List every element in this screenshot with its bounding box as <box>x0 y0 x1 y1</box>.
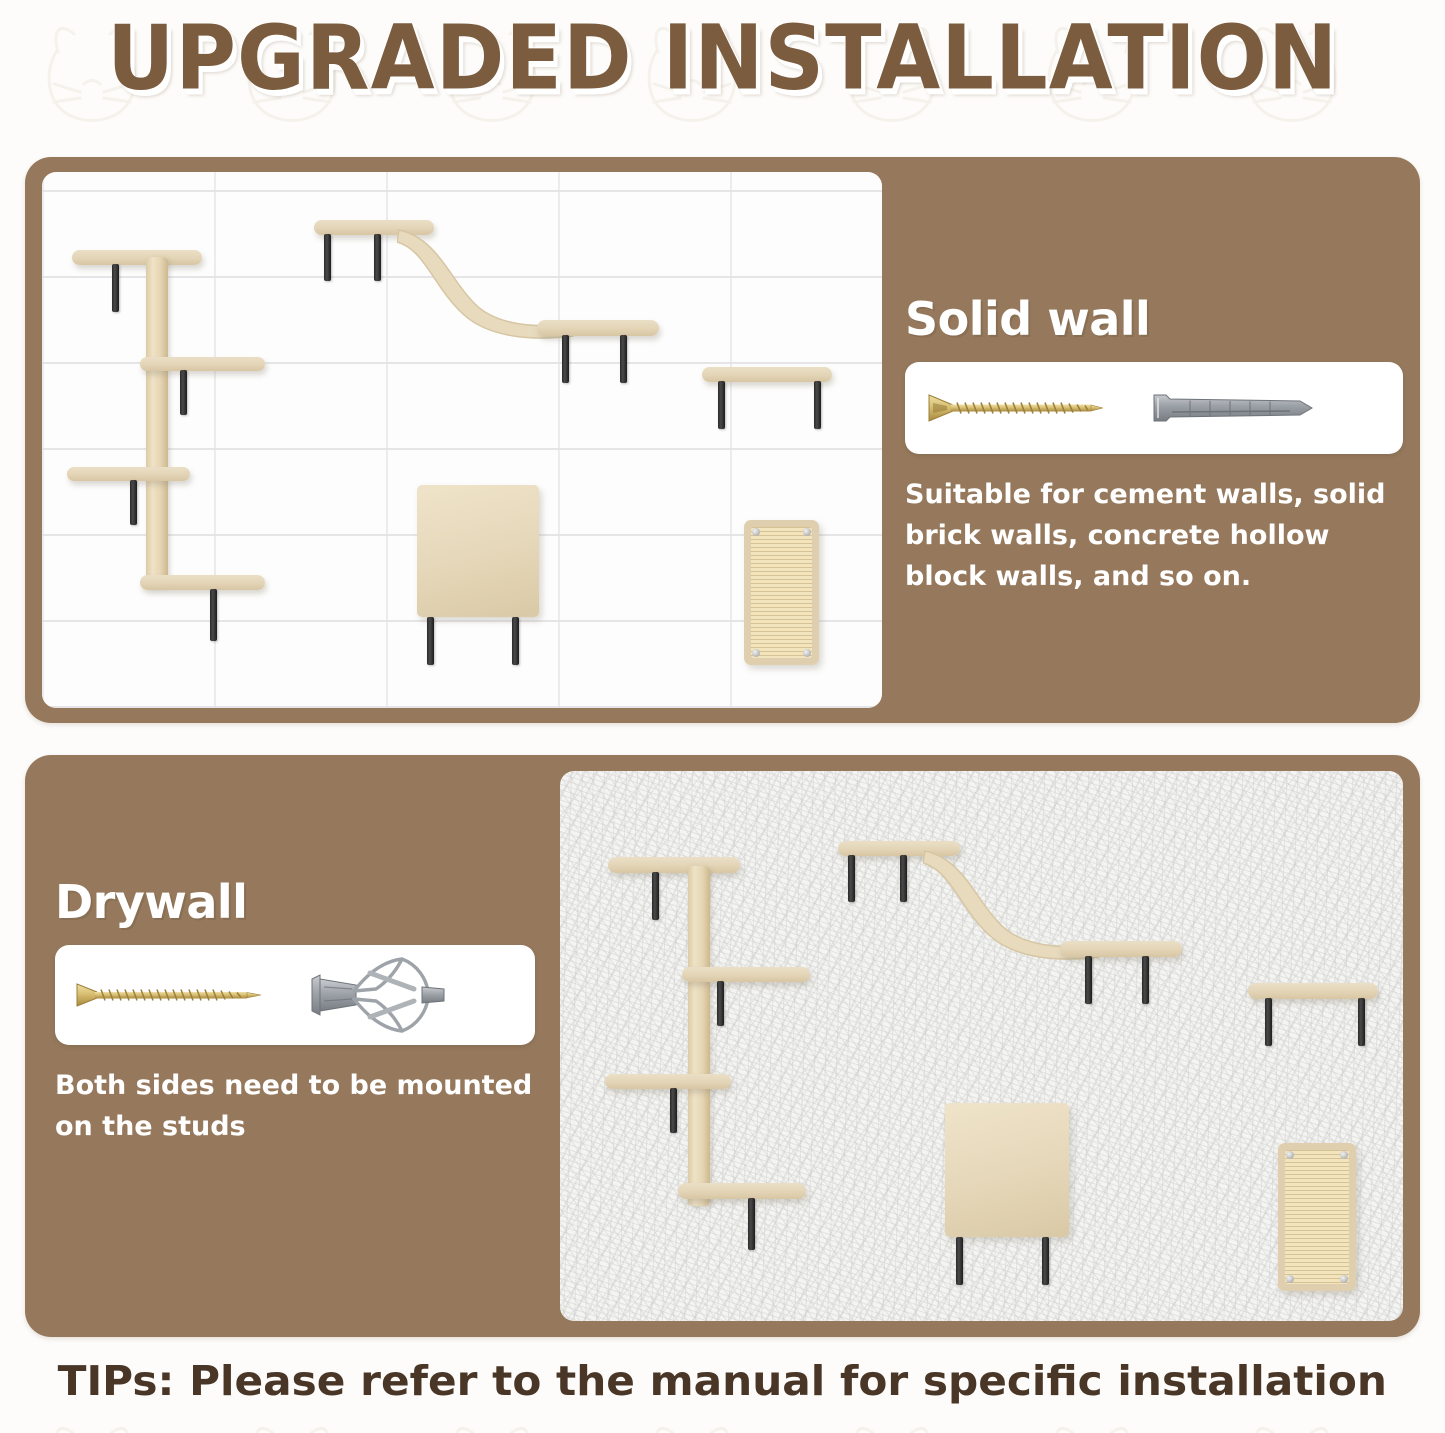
page-title: UPGRADED INSTALLATION <box>0 14 1445 104</box>
wall-shelf-step <box>678 1183 806 1199</box>
wall-shelf-step <box>140 357 265 371</box>
drywall-photo <box>560 771 1403 1321</box>
corner-screw <box>752 649 760 657</box>
shelf-bracket <box>814 381 821 429</box>
shelf-bracket <box>620 335 627 383</box>
wall-shelf-step <box>682 967 810 982</box>
corner-screw <box>1340 1151 1348 1159</box>
solid-wall-panel: Solid wall <box>25 157 1420 723</box>
page-title-text: UPGRADED INSTALLATION <box>107 8 1338 111</box>
shelf-bracket <box>324 234 331 281</box>
shelf-bracket <box>848 855 855 902</box>
shelf-bracket <box>956 1237 963 1285</box>
gold-countersunk-screw-icon <box>927 390 1117 426</box>
plush-hammock-box <box>417 485 539 617</box>
wall-shelf-step <box>537 320 659 336</box>
corner-screw <box>1340 1275 1348 1283</box>
wall-shelf-step <box>702 367 832 382</box>
corner-screw <box>1286 1151 1294 1159</box>
sisal-surface <box>751 527 812 658</box>
shelf-bracket <box>1142 956 1149 1004</box>
drywall-hardware-card <box>55 945 535 1045</box>
plush-hammock-box <box>945 1103 1069 1237</box>
solid-wall-description: Suitable for cement walls, solid brick w… <box>905 474 1403 597</box>
footer-tip: TIPs: Please refer to the manual for spe… <box>0 1357 1445 1405</box>
shelf-bracket <box>900 855 907 902</box>
shelf-bracket <box>112 264 119 312</box>
footer-tip-text: TIPs: Please refer to the manual for spe… <box>58 1357 1387 1405</box>
wall-shelf-step <box>67 467 190 481</box>
shelf-bracket <box>1265 998 1272 1046</box>
shelf-bracket <box>1358 998 1365 1046</box>
shelf-bracket <box>130 480 137 525</box>
solid-wall-hardware-card <box>905 362 1403 454</box>
wall-shelf-step <box>608 857 740 873</box>
wall-shelf-step <box>605 1074 731 1089</box>
wall-shelf-step <box>72 250 202 265</box>
shelf-bracket <box>180 370 187 415</box>
shelf-bracket <box>652 872 659 920</box>
sisal-scratching-post <box>146 257 168 587</box>
solid-wall-heading: Solid wall <box>905 292 1403 346</box>
drywall-description: Both sides need to be mounted on the stu… <box>55 1065 535 1147</box>
shelf-bracket <box>374 234 381 281</box>
grey-expansion-plug-anchor-icon <box>1150 390 1320 426</box>
drywall-info: Drywall <box>55 875 535 1147</box>
sisal-surface <box>1285 1150 1349 1284</box>
sisal-scratching-post <box>688 866 710 1206</box>
wall-shelf-step <box>1248 983 1378 999</box>
grey-toggle-butterfly-anchor-icon <box>310 957 450 1033</box>
corner-screw <box>752 528 760 536</box>
sisal-scratching-pad <box>1278 1143 1356 1291</box>
shelf-bracket <box>210 589 217 641</box>
shelf-bracket <box>1085 956 1092 1004</box>
sisal-scratching-pad <box>744 520 819 665</box>
wall-shelf-step <box>140 575 265 590</box>
solid-wall-photo <box>42 172 882 708</box>
shelf-bracket <box>718 381 725 429</box>
gold-countersunk-screw-icon <box>75 977 275 1013</box>
drywall-heading: Drywall <box>55 875 535 929</box>
shelf-bracket <box>562 335 569 383</box>
shelf-bracket <box>512 617 519 665</box>
shelf-bracket <box>427 617 434 665</box>
drywall-panel: Drywall <box>25 755 1420 1337</box>
corner-screw <box>803 649 811 657</box>
shelf-bracket <box>717 981 724 1026</box>
wall-shelf-step <box>1060 941 1182 957</box>
corner-screw <box>803 528 811 536</box>
shelf-bracket <box>1042 1237 1049 1285</box>
shelf-bracket <box>748 1198 755 1250</box>
corner-screw <box>1286 1275 1294 1283</box>
shelf-bracket <box>670 1088 677 1133</box>
solid-wall-info: Solid wall <box>905 292 1403 597</box>
